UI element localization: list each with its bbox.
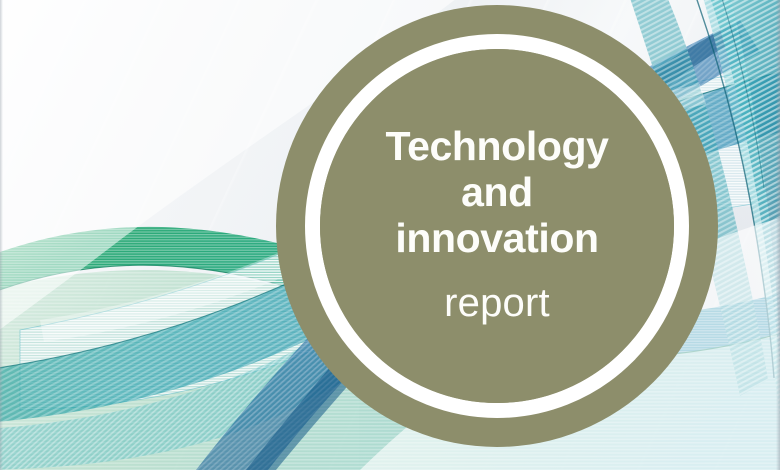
title-line-1: Technology (332, 124, 662, 170)
page-edge-right (776, 0, 780, 470)
title-line-2: and (332, 170, 662, 216)
subtitle-report: report (332, 282, 662, 324)
report-cover: Technology and innovation report (0, 0, 780, 470)
title-line-3: innovation (332, 216, 662, 262)
medallion-text-block: Technology and innovation report (332, 124, 662, 328)
report-title-medallion: Technology and innovation report (276, 5, 718, 447)
page-edge-left (0, 0, 3, 470)
